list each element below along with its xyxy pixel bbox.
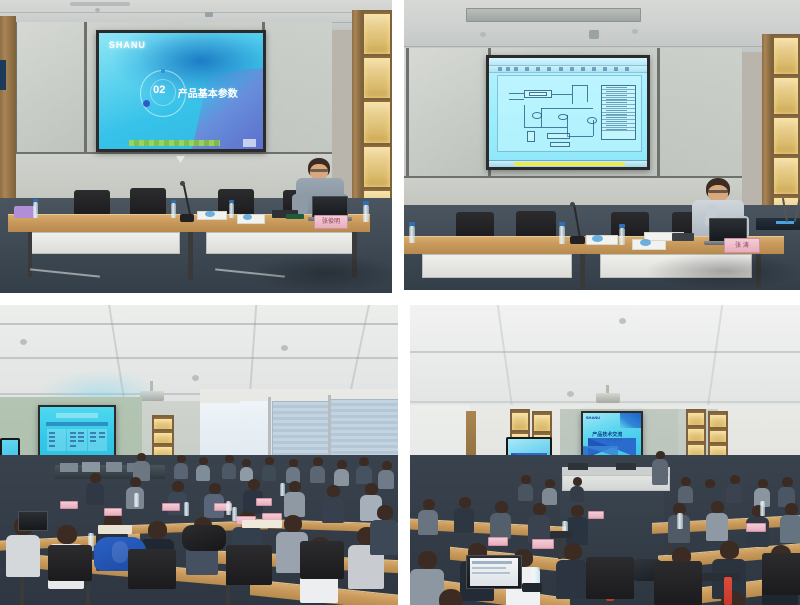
lanyard-strap (724, 577, 732, 605)
office-chair (128, 549, 176, 589)
bottle-cap-icon (229, 200, 234, 203)
projection-screen-tr[interactable] (486, 55, 650, 170)
document-graphic (640, 239, 651, 246)
cad-block (550, 142, 570, 147)
office-chair (654, 561, 702, 605)
smartphone (550, 531, 572, 538)
slide-footer-bar (129, 140, 221, 146)
slide-section-title: 产品基本参数 (178, 85, 238, 100)
water-bottle (409, 226, 415, 243)
niche-shelf (364, 56, 390, 98)
tablet-content-line (472, 561, 512, 564)
table-modesty-panel (30, 232, 180, 254)
niche-shelf (774, 36, 798, 74)
ceiling-sprinkler-icon (567, 391, 574, 397)
niche-shelf (774, 156, 798, 194)
office-chair (48, 545, 92, 581)
name-placard-tr: 张 涛 (724, 238, 760, 253)
data-table-slide (40, 407, 114, 461)
ceiling-air-vent (466, 8, 641, 22)
water-bottle (171, 203, 176, 218)
ceiling-grid-line (0, 357, 398, 359)
ceiling-sprinkler-icon (192, 375, 199, 381)
person-head (656, 451, 665, 459)
name-placard-text: 张俊明 (322, 219, 340, 225)
water-bottle (559, 226, 565, 244)
cad-line (552, 94, 572, 95)
ceiling-projector-mount (589, 30, 599, 39)
cad-line (572, 85, 573, 104)
projection-screen-tl[interactable]: SHANU 02 产品基本参数 (96, 30, 266, 152)
name-placard (60, 501, 78, 509)
water-bottle (619, 228, 625, 245)
floor-shadow (644, 252, 800, 290)
microphone-head-icon (180, 181, 185, 186)
window-pane (240, 401, 270, 463)
slide-corner-accent (620, 413, 641, 428)
slide-title-band (56, 413, 97, 418)
cad-slide (489, 58, 647, 167)
slide-subtitle-text: 技术服务部 (607, 438, 622, 442)
cad-line (524, 105, 525, 127)
ceiling-grid-line (0, 323, 398, 325)
av-equipment-led (776, 221, 794, 224)
tablet-device (672, 233, 694, 241)
cad-block (547, 133, 570, 139)
ceiling-sprinkler-icon (480, 32, 486, 37)
document-graphic (243, 214, 252, 220)
cad-drawing-canvas[interactable] (497, 75, 642, 151)
cad-line (567, 136, 593, 137)
water-bottle (33, 202, 38, 218)
name-placard (104, 508, 122, 516)
name-placard (256, 498, 272, 506)
niche-shelf (154, 417, 172, 429)
name-placard (746, 523, 766, 532)
water-bottle (677, 513, 683, 529)
ceiling-sprinkler-icon (281, 345, 288, 351)
wood-column-left (0, 16, 16, 213)
eyeglasses-icon (310, 169, 328, 172)
cad-legend-table (601, 85, 635, 140)
cad-line (509, 93, 523, 94)
ceiling-sensor (205, 12, 213, 17)
screen-surface (40, 407, 114, 461)
bag-black (182, 525, 226, 551)
photo-collage: SHANU 02 产品基本参数 (0, 0, 800, 605)
ceiling-sprinkler-icon (619, 318, 626, 324)
photo-bottom-right[interactable]: SHANU 产品技术交流 技术服务部 (410, 305, 800, 605)
smartphone (522, 583, 542, 592)
water-bottle (184, 502, 189, 516)
meeting-room-scene-tr: 张 涛 (404, 0, 800, 290)
water-bottle (760, 501, 765, 516)
microphone-base (570, 236, 585, 244)
water-bottle (134, 493, 139, 507)
slide-title-text: 产品技术交流 (592, 431, 622, 438)
ceiling-projector-br (596, 393, 620, 403)
table-modesty-panel (422, 254, 572, 278)
bottle-cap-icon (171, 200, 176, 203)
document-stack (98, 525, 132, 534)
meeting-room-scene-tl: SHANU 02 产品基本参数 (0, 0, 392, 293)
screen-surface: SHANU 产品技术交流 技术服务部 (583, 413, 641, 457)
wall-monitor-edge (0, 60, 6, 90)
name-placard (588, 511, 604, 519)
floor-shadow (250, 253, 392, 293)
classroom-scene-br: SHANU 产品技术交流 技术服务部 (410, 305, 800, 605)
classroom-scene-bl (0, 305, 398, 605)
cad-title-bar (489, 58, 647, 66)
slide-logo-text: SHANU (586, 415, 600, 420)
ceiling-grid-line (410, 351, 800, 353)
bottle-cap-icon (619, 224, 625, 228)
slide-table-header (46, 422, 108, 426)
backpack-pocket (112, 541, 128, 563)
office-chair (586, 557, 634, 599)
keyboard-device (286, 214, 304, 219)
cad-line (509, 99, 523, 100)
tablet-content-line (472, 567, 506, 569)
title-slide: SHANU 产品技术交流 技术服务部 (583, 413, 641, 457)
water-bottle (232, 507, 237, 521)
office-chair (226, 545, 272, 585)
ceiling-line (0, 12, 392, 13)
cad-tool-bar (489, 66, 647, 74)
name-placard-text: 张 涛 (735, 243, 749, 249)
cad-vessel (527, 131, 536, 141)
ceiling-line (404, 46, 800, 47)
name-placard (488, 537, 508, 546)
water-bottle (226, 501, 231, 515)
water-bottle (229, 203, 234, 218)
screen-surface (489, 58, 647, 167)
laptop-screen[interactable] (18, 511, 48, 531)
tablet-content-line (472, 572, 510, 574)
ceiling-sprinkler-icon (632, 29, 638, 34)
niche-shelf (774, 116, 798, 154)
smartphone (700, 573, 740, 581)
cad-command-line[interactable] (514, 162, 625, 166)
slide-section-number: 02 (153, 84, 165, 96)
slide-footer-box (243, 139, 256, 147)
microphone-base (180, 214, 194, 222)
cad-block (529, 92, 546, 96)
bottle-cap-icon (33, 199, 38, 202)
name-placard (162, 503, 180, 511)
photo-top-right[interactable]: 张 涛 (404, 0, 800, 290)
eyeglasses-icon (708, 190, 728, 193)
table-leg (188, 232, 193, 280)
window-pane (200, 403, 240, 463)
name-placard (532, 539, 554, 549)
cad-line (572, 85, 586, 86)
niche-shelf (364, 12, 390, 54)
water-bottle (363, 205, 369, 222)
niche-shelf (364, 145, 390, 187)
projection-screen-br[interactable]: SHANU 产品技术交流 技术服务部 (581, 411, 643, 459)
table-modesty-panel (206, 232, 356, 254)
ceiling-sprinkler-icon (20, 339, 27, 345)
cad-symbol (532, 112, 542, 119)
document-graphic (205, 211, 215, 217)
microphone-head-icon (570, 202, 575, 207)
niche-shelf (364, 100, 390, 142)
office-chair (300, 541, 344, 579)
table-leg (580, 254, 585, 290)
slide-logo-text: SHANU (109, 40, 146, 50)
photo-bottom-left[interactable] (0, 305, 398, 605)
document-graphic (592, 235, 603, 242)
ceiling-sprinkler-icon (95, 8, 100, 12)
ceiling-vent-slot (70, 2, 130, 6)
bottle-cap-icon (559, 222, 565, 226)
niche-shelf (774, 76, 798, 114)
cad-line (587, 85, 588, 101)
bottle-cap-icon (363, 201, 369, 205)
photo-top-left[interactable]: SHANU 02 产品基本参数 (0, 0, 392, 293)
water-bottle (280, 483, 285, 496)
bottle-cap-icon (409, 222, 415, 226)
niche-shelf (154, 431, 172, 443)
screen-surface: SHANU 02 产品基本参数 (99, 33, 263, 149)
name-placard-tl: 张俊明 (314, 215, 348, 229)
document-stack (242, 520, 282, 528)
cad-line (541, 108, 593, 109)
cad-symbol (587, 117, 597, 124)
office-chair (762, 553, 800, 595)
cad-line (524, 127, 567, 128)
